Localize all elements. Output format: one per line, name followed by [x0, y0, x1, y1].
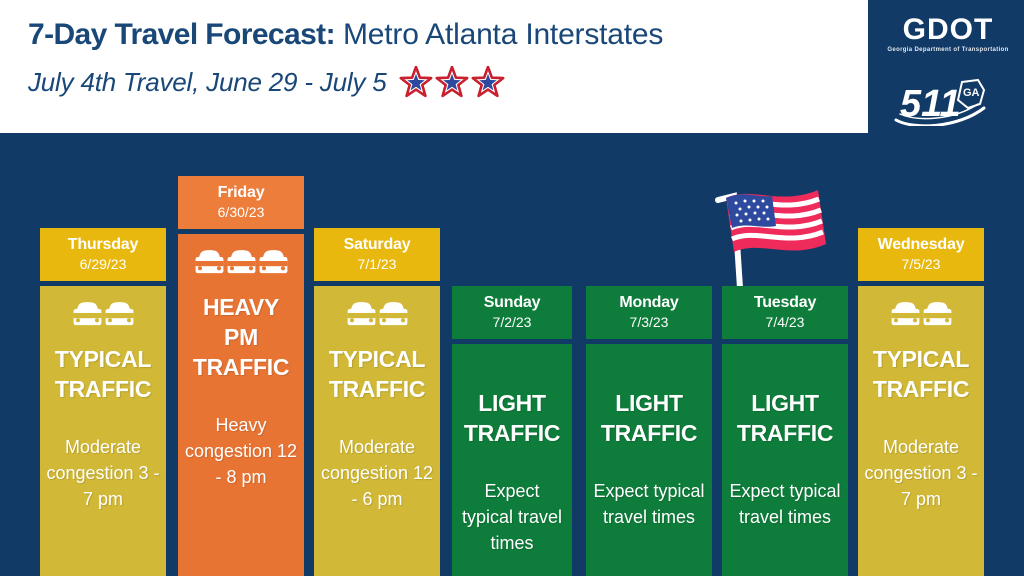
page-title: 7-Day Travel Forecast: Metro Atlanta Int… — [28, 18, 663, 52]
day-date: 7/5/23 — [860, 255, 982, 273]
day-date: 7/2/23 — [454, 313, 570, 331]
day-column-thursday[interactable]: Thursday6/29/23TYPICAL TRAFFICModerate c… — [40, 228, 166, 576]
car-icon — [73, 300, 102, 330]
us-flag-svg — [706, 184, 836, 294]
subtitle-row: July 4th Travel, June 29 - July 5 — [28, 64, 505, 100]
car-icon — [347, 300, 376, 330]
title-light: Metro Atlanta Interstates — [343, 18, 663, 51]
gdot-wordmark-text: GDOT — [903, 14, 994, 46]
logo-511-svg: 511 GA — [884, 74, 1012, 126]
day-column-header: Thursday6/29/23 — [40, 228, 166, 281]
day-column-body: LIGHT TRAFFICExpect typical travel times — [452, 344, 572, 576]
day-name: Sunday — [454, 293, 570, 312]
day-name: Monday — [588, 293, 710, 312]
logo-511: 511 GA — [884, 74, 1012, 126]
day-column-body: TYPICAL TRAFFICModerate congestion 3 - 7… — [40, 286, 166, 576]
day-column-header: Wednesday7/5/23 — [858, 228, 984, 281]
day-column-body: LIGHT TRAFFICExpect typical travel times — [722, 344, 848, 576]
traffic-status-label: TYPICAL TRAFFIC — [864, 344, 978, 404]
day-date: 6/29/23 — [42, 255, 164, 273]
day-column-sunday[interactable]: Sunday7/2/23LIGHT TRAFFICExpect typical … — [452, 286, 572, 576]
car-icon — [891, 300, 920, 330]
day-column-body: TYPICAL TRAFFICModerate congestion 3 - 7… — [858, 286, 984, 576]
day-date: 7/4/23 — [724, 313, 846, 331]
day-column-header: Sunday7/2/23 — [452, 286, 572, 339]
traffic-detail-text: Expect typical travel times — [728, 478, 842, 530]
day-column-monday[interactable]: Monday7/3/23LIGHT TRAFFICExpect typical … — [586, 286, 712, 576]
day-name: Tuesday — [724, 293, 846, 312]
traffic-detail-text: Expect typical travel times — [592, 478, 706, 530]
day-date: 6/30/23 — [180, 203, 302, 221]
day-column-header: Tuesday7/4/23 — [722, 286, 848, 339]
gdot-tagline: Georgia Department of Transportation — [884, 47, 1012, 53]
car-icon — [259, 248, 288, 278]
us-flag-icon — [706, 184, 836, 294]
traffic-status-label: HEAVY PM TRAFFIC — [184, 292, 298, 382]
star-decoration — [399, 66, 505, 100]
svg-text:GA: GA — [963, 87, 980, 99]
car-icon — [379, 300, 408, 330]
gdot-logo: GDOT Georgia Department of Transportatio… — [884, 14, 1012, 53]
traffic-detail-text: Moderate congestion 12 - 6 pm — [320, 434, 434, 512]
star-icon — [399, 66, 433, 100]
header-band: 7-Day Travel Forecast: Metro Atlanta Int… — [0, 0, 868, 133]
traffic-status-label: TYPICAL TRAFFIC — [46, 344, 160, 404]
car-icon — [195, 248, 224, 278]
star-icon — [435, 66, 469, 100]
traffic-status-label: LIGHT TRAFFIC — [458, 388, 566, 448]
subtitle: July 4th Travel, June 29 - July 5 — [28, 67, 387, 98]
traffic-detail-text: Moderate congestion 3 - 7 pm — [46, 434, 160, 512]
day-column-body: HEAVY PM TRAFFICHeavy congestion 12 - 8 … — [178, 234, 304, 576]
traffic-status-label: LIGHT TRAFFIC — [728, 388, 842, 448]
traffic-level-icons — [864, 300, 978, 330]
car-icon — [105, 300, 134, 330]
title-strong: 7-Day Travel Forecast: — [28, 18, 335, 51]
day-name: Thursday — [42, 235, 164, 254]
day-column-body: TYPICAL TRAFFICModerate congestion 12 - … — [314, 286, 440, 576]
star-icon — [471, 66, 505, 100]
day-date: 7/1/23 — [316, 255, 438, 273]
traffic-detail-text: Expect typical travel times — [458, 478, 566, 556]
traffic-level-icons — [46, 300, 160, 330]
day-date: 7/3/23 — [588, 313, 710, 331]
traffic-level-icons — [184, 248, 298, 278]
traffic-detail-text: Moderate congestion 3 - 7 pm — [864, 434, 978, 512]
forecast-infographic: 7-Day Travel Forecast: Metro Atlanta Int… — [0, 0, 1024, 576]
traffic-level-icons — [320, 300, 434, 330]
day-column-wednesday[interactable]: Wednesday7/5/23TYPICAL TRAFFICModerate c… — [858, 228, 984, 576]
day-name: Saturday — [316, 235, 438, 254]
day-column-saturday[interactable]: Saturday7/1/23TYPICAL TRAFFICModerate co… — [314, 228, 440, 576]
traffic-detail-text: Heavy congestion 12 - 8 pm — [184, 412, 298, 490]
car-icon — [227, 248, 256, 278]
day-column-tuesday[interactable]: Tuesday7/4/23LIGHT TRAFFICExpect typical… — [722, 286, 848, 576]
day-column-header: Friday6/30/23 — [178, 176, 304, 229]
traffic-status-label: LIGHT TRAFFIC — [592, 388, 706, 448]
car-icon — [923, 300, 952, 330]
traffic-status-label: TYPICAL TRAFFIC — [320, 344, 434, 404]
day-name: Wednesday — [860, 235, 982, 254]
day-name: Friday — [180, 183, 302, 202]
day-column-header: Monday7/3/23 — [586, 286, 712, 339]
day-column-friday[interactable]: Friday6/30/23HEAVY PM TRAFFICHeavy conge… — [178, 176, 304, 576]
day-column-header: Saturday7/1/23 — [314, 228, 440, 281]
day-column-body: LIGHT TRAFFICExpect typical travel times — [586, 344, 712, 576]
